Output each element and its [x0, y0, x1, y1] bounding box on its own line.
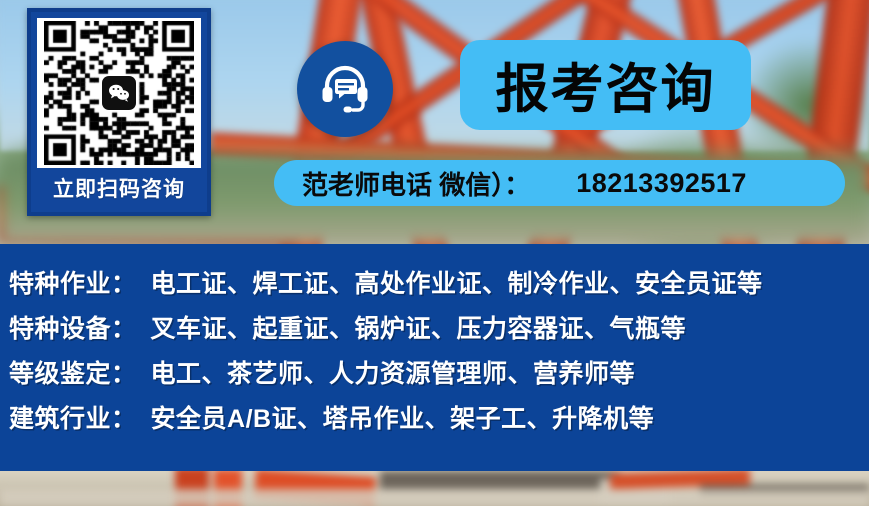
qr-code-image[interactable] [37, 18, 201, 168]
headline-text: 报考咨询 [496, 47, 716, 123]
qr-code-card[interactable]: 立即扫码咨询 [27, 8, 211, 216]
advertisement-banner: 立即扫码咨询 报考咨询 范老师电话 微信）： 18213392517 特种作业：… [0, 0, 869, 506]
category-items: 电工、茶艺师、人力资源管理师、营养师等 [151, 354, 636, 390]
category-label: 建筑行业： [9, 399, 137, 435]
wechat-icon [102, 76, 136, 110]
category-label: 等级鉴定： [9, 354, 137, 390]
qr-card-label: 立即扫码咨询 [53, 168, 185, 212]
list-item: 等级鉴定： 电工、茶艺师、人力资源管理师、营养师等 [9, 354, 869, 399]
bottom-photo-blur-layer [0, 471, 869, 506]
list-item: 特种设备： 叉车证、起重证、锅炉证、压力容器证、气瓶等 [9, 309, 869, 354]
contact-pill[interactable]: 范老师电话 微信）： 18213392517 [274, 160, 845, 206]
bottom-ground-wash [0, 489, 869, 506]
headline-pill: 报考咨询 [460, 40, 751, 130]
support-headset-badge [297, 41, 393, 137]
bottom-background-photo [0, 471, 869, 506]
category-label: 特种设备： [9, 309, 137, 345]
category-label: 特种作业： [9, 264, 137, 300]
list-item: 建筑行业： 安全员A/B证、塔吊作业、架子工、升降机等 [9, 399, 869, 444]
contact-phone-number[interactable]: 18213392517 [576, 168, 747, 199]
list-item: 特种作业： 电工证、焊工证、高处作业证、制冷作业、安全员证等 [9, 264, 869, 309]
category-items: 叉车证、起重证、锅炉证、压力容器证、气瓶等 [151, 309, 687, 345]
headset-support-icon [315, 59, 375, 119]
category-items: 安全员A/B证、塔吊作业、架子工、升降机等 [151, 399, 655, 435]
bottom-dark-bar-1 [380, 471, 620, 489]
contact-label: 范老师电话 微信）： [302, 165, 530, 202]
category-items: 电工证、焊工证、高处作业证、制冷作业、安全员证等 [151, 264, 763, 300]
certification-list-band: 特种作业： 电工证、焊工证、高处作业证、制冷作业、安全员证等 特种设备： 叉车证… [0, 244, 869, 471]
